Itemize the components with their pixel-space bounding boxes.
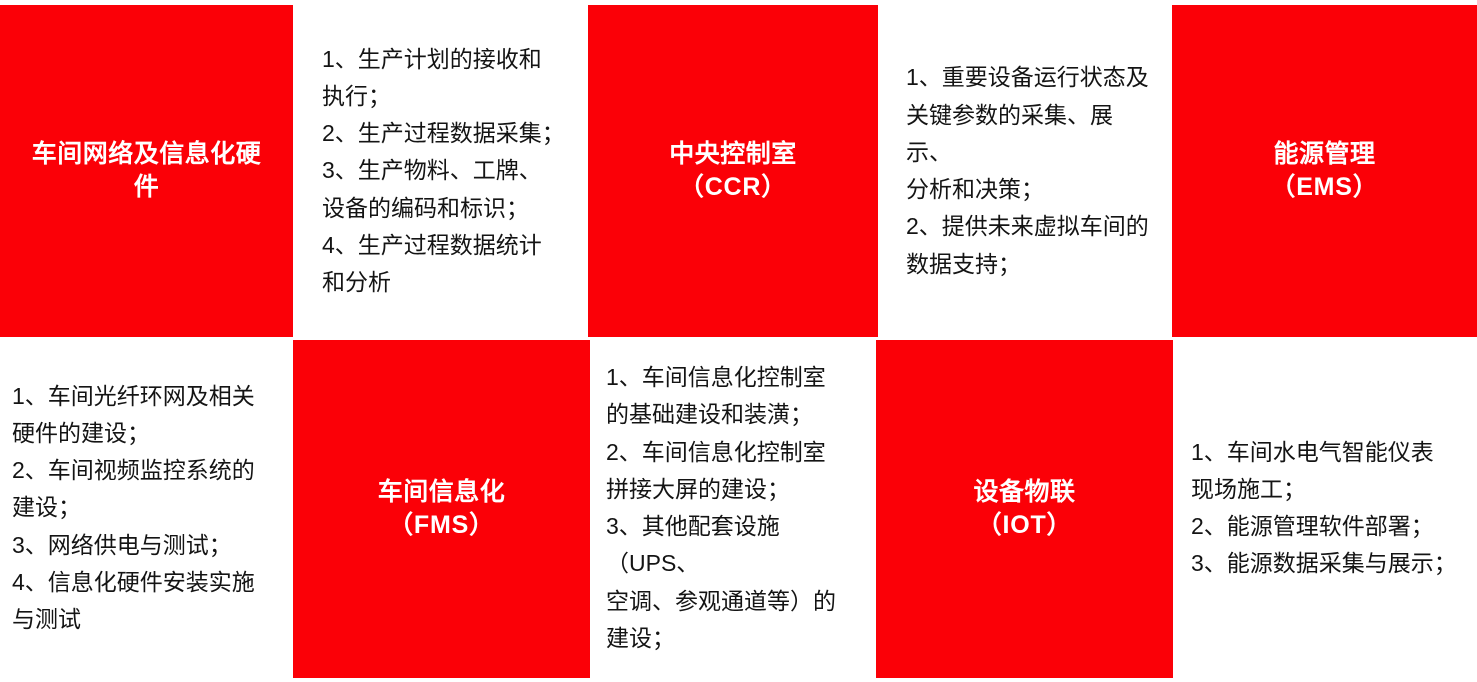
cell-ems-scope-list: 1、车间水电气智能仪表 现场施工； 2、能源管理软件部署； 3、能源数据采集与展… — [1177, 340, 1477, 676]
list-item: 1、重要设备运行状态及 关键参数的采集、展示、 分析和决策； — [906, 59, 1156, 208]
cell-network-hardware-scope-list: 1、车间光纤环网及相关 硬件的建设； 2、车间视频监控系统的 建设； 3、网络供… — [0, 340, 291, 676]
cell-acronym: （IOT） — [977, 509, 1073, 543]
cell-acronym: （FMS） — [388, 509, 495, 543]
cell-title: 车间网络及信息化硬 件 — [32, 138, 262, 205]
cell-title: 车间信息化 — [378, 476, 506, 510]
cell-workshop-informatization[interactable]: 车间信息化 （FMS） — [293, 340, 590, 678]
cell-title: 中央控制室 — [669, 138, 797, 172]
cell-workshop-network-hardware[interactable]: 车间网络及信息化硬 件 — [0, 5, 293, 337]
list-item: 1、生产计划的接收和 执行； — [322, 41, 577, 116]
list-item: 2、生产过程数据采集； — [322, 115, 577, 152]
cell-ccr-scope-list: 1、重要设备运行状态及 关键参数的采集、展示、 分析和决策； 2、提供未来虚拟车… — [884, 5, 1170, 337]
cell-title: 设备物联 — [973, 476, 1075, 510]
cell-equipment-iot[interactable]: 设备物联 （IOT） — [876, 340, 1173, 678]
list-item: 2、提供未来虚拟车间的 数据支持； — [906, 208, 1156, 283]
capability-matrix: 车间网络及信息化硬 件 1、生产计划的接收和 执行； 2、生产过程数据采集； 3… — [0, 0, 1477, 682]
list-item: 3、网络供电与测试； — [12, 527, 281, 564]
list-item: 2、车间视频监控系统的 建设； — [12, 452, 281, 527]
list-item: 3、其他配套设施（UPS、 空调、参观通道等）的 建设； — [606, 508, 872, 657]
cell-central-control-room[interactable]: 中央控制室 （CCR） — [588, 5, 878, 337]
cell-fms-scope-list: 1、车间信息化控制室 的基础建设和装潢； 2、车间信息化控制室 拼接大屏的建设；… — [598, 340, 878, 676]
cell-acronym: （CCR） — [679, 171, 787, 205]
cell-mes-scope-list: 1、生产计划的接收和 执行； 2、生产过程数据采集； 3、生产物料、工牌、 设备… — [300, 5, 587, 337]
list-item: 3、能源数据采集与展示； — [1191, 545, 1469, 582]
list-item: 1、车间信息化控制室 的基础建设和装潢； — [606, 359, 872, 434]
list-item: 3、生产物料、工牌、 设备的编码和标识； — [322, 152, 577, 227]
cell-energy-management[interactable]: 能源管理 （EMS） — [1172, 5, 1477, 337]
list-item: 4、生产过程数据统计 和分析 — [322, 227, 577, 302]
list-item: 4、信息化硬件安装实施 与测试 — [12, 564, 281, 639]
list-item: 1、车间水电气智能仪表 现场施工； — [1191, 434, 1469, 509]
list-item: 2、车间信息化控制室 拼接大屏的建设； — [606, 434, 872, 509]
cell-title: 能源管理 — [1273, 138, 1375, 172]
list-item: 2、能源管理软件部署； — [1191, 508, 1469, 545]
cell-acronym: （EMS） — [1270, 171, 1378, 205]
list-item: 1、车间光纤环网及相关 硬件的建设； — [12, 378, 281, 453]
